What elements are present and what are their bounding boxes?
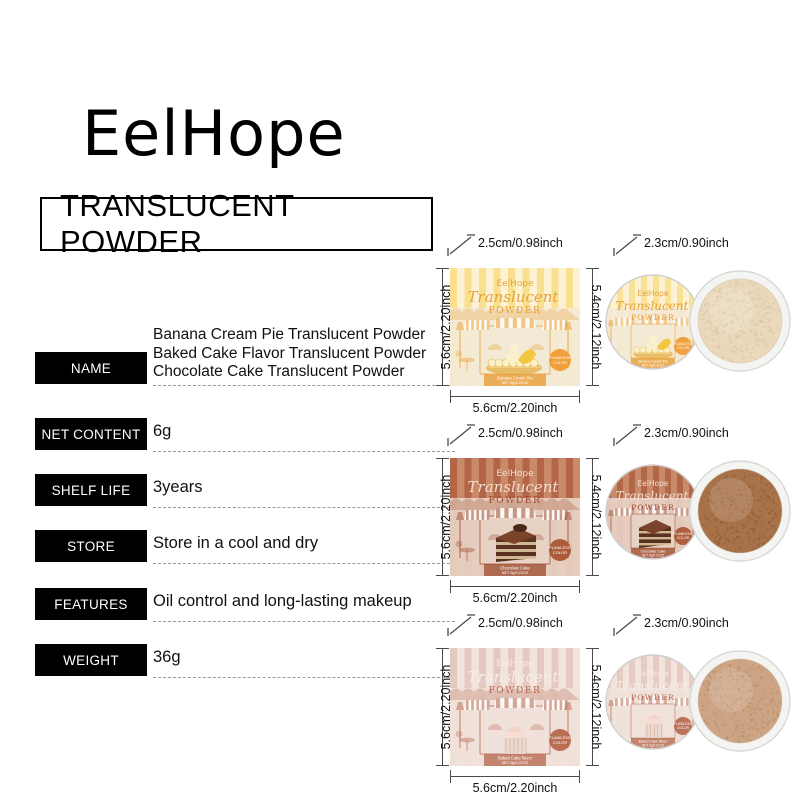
jar-height-label: 5.4cm/2.12inch <box>589 652 603 762</box>
svg-text:Translucent: Translucent <box>468 288 560 306</box>
jar-depth-callout: 2.3cm/0.90inch <box>613 422 763 450</box>
svg-text:EelHope: EelHope <box>637 669 668 678</box>
svg-text:NET 6g/0.21OZ: NET 6g/0.21OZ <box>502 571 529 575</box>
box-height-label: 5.6cm/2.20inch <box>439 652 453 762</box>
svg-text:POWDER: POWDER <box>631 313 675 322</box>
jar-height-dimension: 5.4cm/2.12inch <box>583 458 601 576</box>
spec-divider <box>153 621 455 622</box>
spec-row: FEATURESOil control and long-lasting mak… <box>35 588 455 622</box>
product-row-baked-cake-flavor: 2.5cm/0.98inchFLAWLESSCOLORBaked Cake fl… <box>425 612 800 802</box>
box-width-label: 5.6cm/2.20inch <box>450 401 580 415</box>
spec-divider <box>153 563 455 564</box>
jar-depth-label: 2.3cm/0.90inch <box>644 616 729 630</box>
svg-text:NET 6g/0.21OZ: NET 6g/0.21OZ <box>502 761 529 765</box>
spec-value: 6g <box>153 416 455 441</box>
box-width-dimension: 5.6cm/2.20inch <box>450 772 580 798</box>
box-height-label: 5.6cm/2.20inch <box>439 462 453 572</box>
svg-text:NET 6g/0.21OZ: NET 6g/0.21OZ <box>642 364 664 368</box>
spec-value-line: Banana Cream Pie Translucent Powder <box>153 326 455 345</box>
spec-value: Banana Cream Pie Translucent PowderBaked… <box>153 326 455 382</box>
spec-row: NAMEBanana Cream Pie Translucent PowderB… <box>35 352 455 386</box>
product-jar-chocolate-cake <box>689 460 791 562</box>
svg-text:POWDER: POWDER <box>489 496 542 506</box>
svg-text:NET 6g/0.21OZ: NET 6g/0.21OZ <box>642 744 664 748</box>
jar-height-dimension: 5.4cm/2.12inch <box>583 268 601 386</box>
spec-value: Store in a cool and dry <box>153 528 455 553</box>
svg-text:COLOR: COLOR <box>553 550 567 555</box>
spec-divider <box>153 677 455 678</box>
spec-divider <box>153 451 455 452</box>
jar-depth-callout: 2.3cm/0.90inch <box>613 232 763 260</box>
product-jar-banana-cream-pie <box>689 270 791 372</box>
box-height-dimension: 5.6cm/2.20inch <box>433 648 451 766</box>
svg-text:COLOR: COLOR <box>677 726 690 730</box>
spec-value-text: Store in a cool and dry <box>153 534 455 553</box>
page-title: TRANSLUCENT POWDER <box>42 188 431 260</box>
svg-text:Baked Cake flavor: Baked Cake flavor <box>498 756 533 761</box>
spec-divider <box>153 507 455 508</box>
svg-text:EelHope: EelHope <box>637 479 668 488</box>
jar-depth-callout: 2.3cm/0.90inch <box>613 612 763 640</box>
box-depth-callout: 2.5cm/0.98inch <box>447 612 597 640</box>
product-infographic: EelHope TRANSLUCENT POWDER NAMEBanana Cr… <box>0 0 800 800</box>
spec-value: Oil control and long-lasting makeup <box>153 586 455 611</box>
svg-text:Translucent: Translucent <box>616 489 689 503</box>
jar-depth-label: 2.3cm/0.90inch <box>644 236 729 250</box>
jar-height-dimension: 5.4cm/2.12inch <box>583 648 601 766</box>
spec-label-net-content: NET CONTENT <box>35 418 147 450</box>
box-depth-callout: 2.5cm/0.98inch <box>447 232 597 260</box>
box-height-dimension: 5.6cm/2.20inch <box>433 458 451 576</box>
spec-row: SHELF LIFE3years <box>35 474 455 508</box>
spec-row: NET CONTENT6g <box>35 418 455 452</box>
svg-text:POWDER: POWDER <box>489 686 542 696</box>
spec-label-store: STORE <box>35 530 147 562</box>
jar-height-label: 5.4cm/2.12inch <box>589 272 603 382</box>
product-box-banana-cream-pie: FLAWLESSCOLORBanana Cream PieNET 6g/0.21… <box>450 268 580 386</box>
spec-value-line: Chocolate Cake Translucent Powder <box>153 363 455 382</box>
product-row-banana-cream-pie: 2.5cm/0.98inchFLAWLESSCOLORBanana Cream … <box>425 232 800 422</box>
svg-text:Translucent: Translucent <box>616 299 689 313</box>
brand-logo: EelHope <box>82 103 346 165</box>
svg-text:POWDER: POWDER <box>631 503 675 512</box>
jar-height-label: 5.4cm/2.12inch <box>589 462 603 572</box>
svg-text:NET 6g/0.21OZ: NET 6g/0.21OZ <box>642 554 664 558</box>
svg-text:COLOR: COLOR <box>553 360 567 365</box>
spec-value-text: 36g <box>153 648 455 667</box>
svg-text:COLOR: COLOR <box>677 536 690 540</box>
box-height-dimension: 5.6cm/2.20inch <box>433 268 451 386</box>
svg-text:NET 6g/0.21OZ: NET 6g/0.21OZ <box>502 381 529 385</box>
spec-label-features: FEATURES <box>35 588 147 620</box>
spec-value-text: Oil control and long-lasting makeup <box>153 592 455 611</box>
box-width-dimension: 5.6cm/2.20inch <box>450 582 580 608</box>
svg-text:Banana Cream Pie: Banana Cream Pie <box>497 376 533 381</box>
spec-label-name: NAME <box>35 352 147 384</box>
svg-text:POWDER: POWDER <box>489 306 542 316</box>
product-jar-baked-cake-flavor <box>689 650 791 752</box>
svg-text:POWDER: POWDER <box>631 693 675 702</box>
spec-label-shelf-life: SHELF LIFE <box>35 474 147 506</box>
product-row-chocolate-cake: 2.5cm/0.98inchFLAWLESSCOLORChocolate Cak… <box>425 422 800 612</box>
box-depth-label: 2.5cm/0.98inch <box>478 236 563 250</box>
spec-value: 3years <box>153 472 455 497</box>
svg-text:Chocolate Cake: Chocolate Cake <box>500 566 530 571</box>
box-width-label: 5.6cm/2.20inch <box>450 591 580 605</box>
spec-row: STOREStore in a cool and dry <box>35 530 455 564</box>
jar-depth-label: 2.3cm/0.90inch <box>644 426 729 440</box>
spec-divider <box>153 385 455 386</box>
svg-text:EelHope: EelHope <box>637 289 668 298</box>
product-box-chocolate-cake: FLAWLESSCOLORChocolate CakeNET 6g/0.21OZ… <box>450 458 580 576</box>
box-depth-callout: 2.5cm/0.98inch <box>447 422 597 450</box>
box-width-label: 5.6cm/2.20inch <box>450 781 580 795</box>
spec-value: 36g <box>153 642 455 667</box>
svg-text:COLOR: COLOR <box>677 346 690 350</box>
spec-value-line: Baked Cake Flavor Translucent Powder <box>153 345 455 364</box>
box-depth-label: 2.5cm/0.98inch <box>478 616 563 630</box>
spec-value-text: 3years <box>153 478 455 497</box>
box-height-label: 5.6cm/2.20inch <box>439 272 453 382</box>
spec-value-text: 6g <box>153 422 455 441</box>
product-title-box: TRANSLUCENT POWDER <box>40 197 433 251</box>
spec-row: WEIGHT36g <box>35 644 455 678</box>
svg-text:Translucent: Translucent <box>468 478 560 496</box>
product-lid-banana-cream-pie: FLAWLESSCOLORBanana Cream PieNET 6g/0.21… <box>605 274 701 370</box>
product-lid-baked-cake-flavor: FLAWLESSCOLORBaked Cake flavorNET 6g/0.2… <box>605 654 701 750</box>
box-depth-label: 2.5cm/0.98inch <box>478 426 563 440</box>
product-lid-chocolate-cake: FLAWLESSCOLORChocolate CakeNET 6g/0.21OZ… <box>605 464 701 560</box>
svg-text:Translucent: Translucent <box>616 679 689 693</box>
box-width-dimension: 5.6cm/2.20inch <box>450 392 580 418</box>
spec-label-weight: WEIGHT <box>35 644 147 676</box>
svg-text:Translucent: Translucent <box>468 668 560 686</box>
svg-text:COLOR: COLOR <box>553 740 567 745</box>
product-box-baked-cake-flavor: FLAWLESSCOLORBaked Cake flavorNET 6g/0.2… <box>450 648 580 766</box>
